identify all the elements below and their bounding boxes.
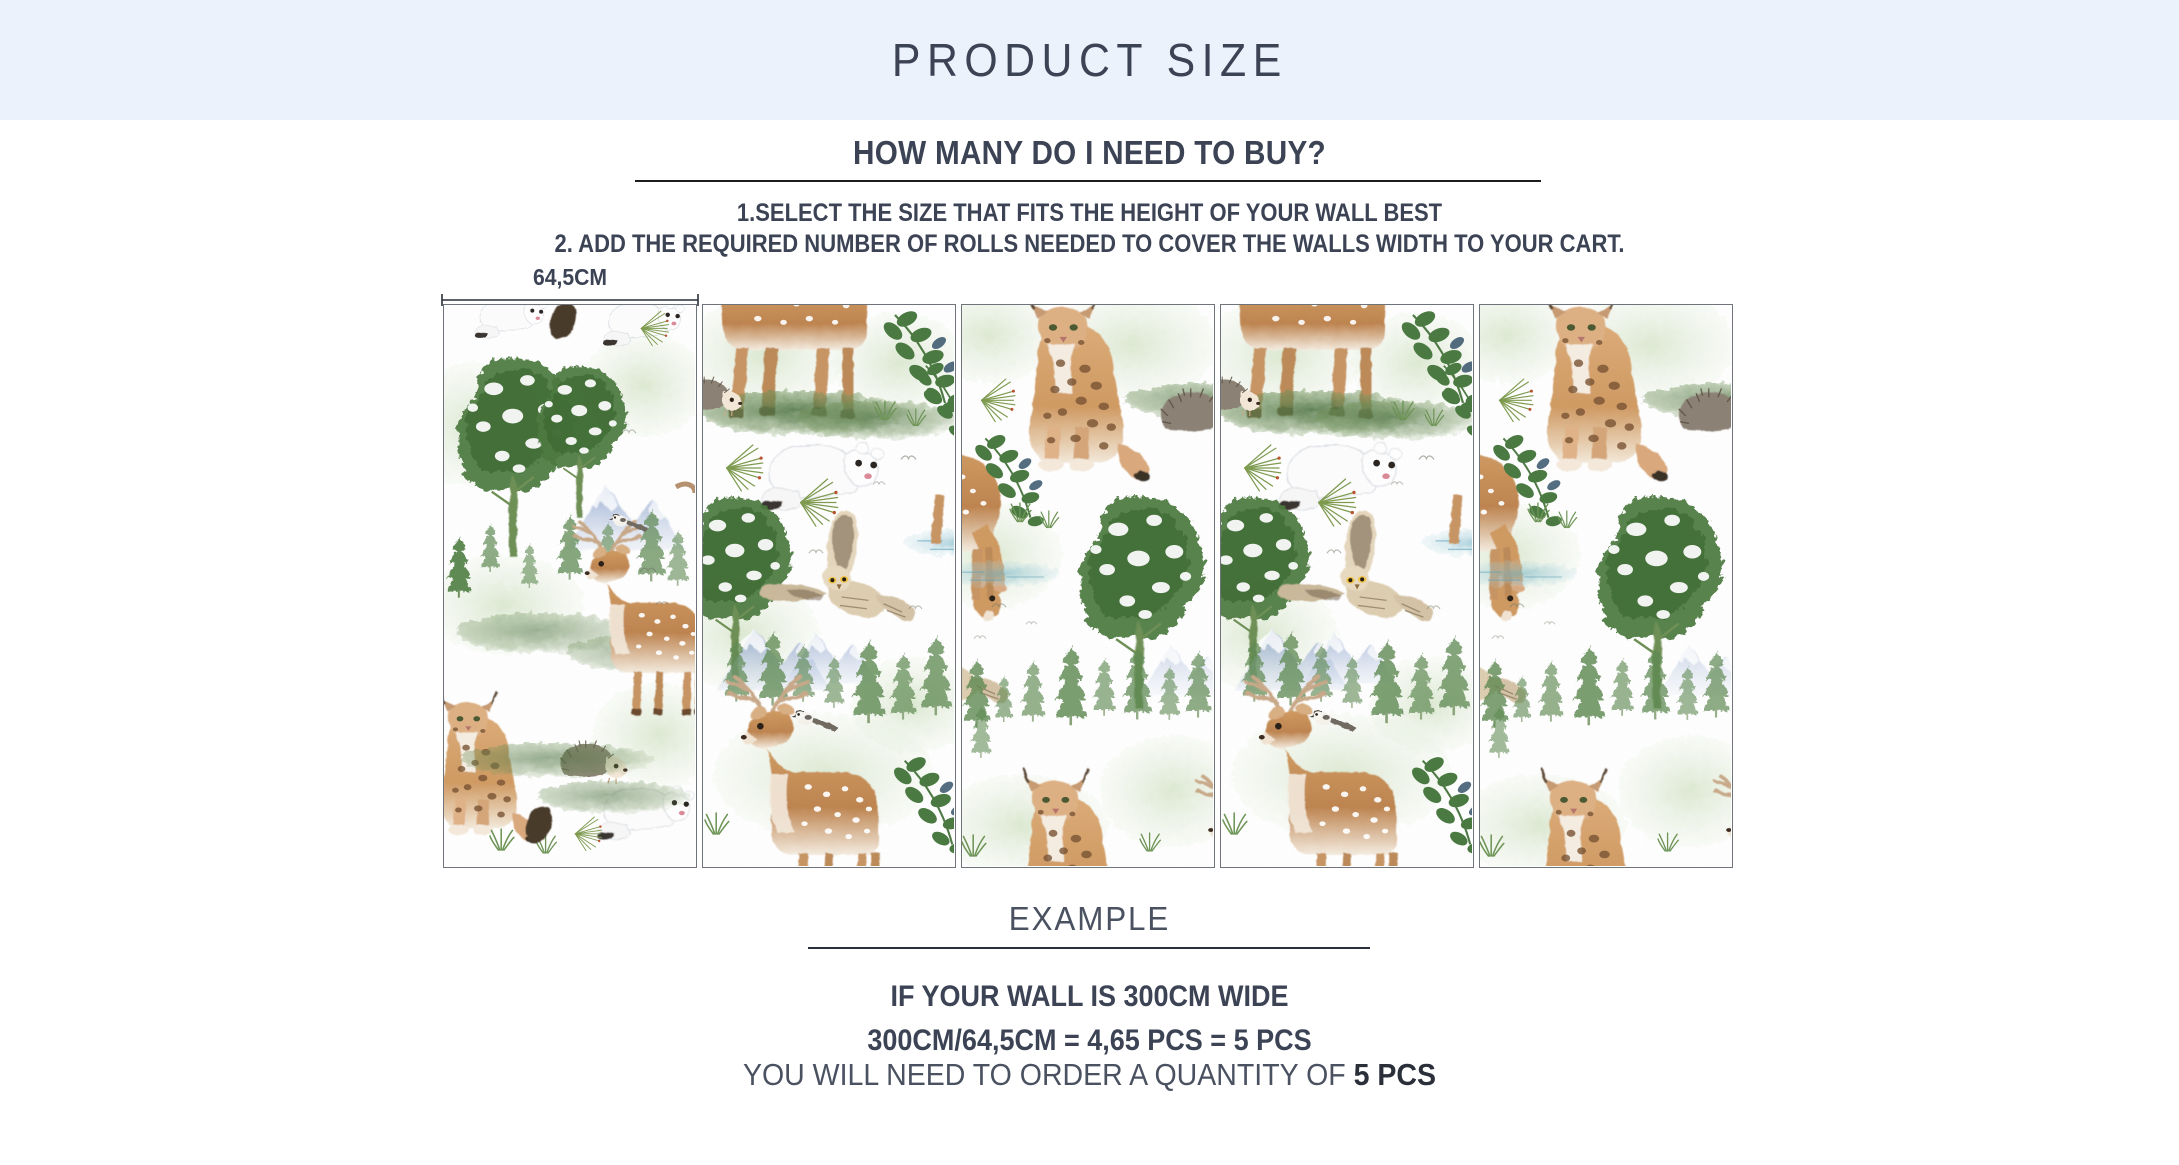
page-header-band: PRODUCT SIZE [0, 0, 2179, 120]
page-title: PRODUCT SIZE [892, 33, 1288, 87]
panel-width-label: 64,5CM [453, 264, 687, 291]
example-line-1: IF YOUR WALL IS 300CM WIDE [109, 975, 2070, 1019]
instruction-line-2: 2. ADD THE REQUIRED NUMBER OF ROLLS NEED… [131, 229, 2049, 260]
wallpaper-panel-4[interactable] [1220, 304, 1474, 868]
example-final-prefix: YOU WILL NEED TO ORDER A QUANTITY OF [743, 1057, 1354, 1092]
wallpaper-panel-1[interactable] [443, 304, 697, 868]
wallpaper-panel-strip [443, 304, 1739, 868]
example-final-quantity: 5 PCS [1354, 1057, 1436, 1092]
example-body: IF YOUR WALL IS 300CM WIDE 300CM/64,5CM … [0, 975, 2179, 1063]
instructions-block: 1.SELECT THE SIZE THAT FITS THE HEIGHT O… [0, 198, 2179, 260]
section-heading: HOW MANY DO I NEED TO BUY? [109, 134, 2070, 172]
example-divider [808, 947, 1370, 949]
wallpaper-panel-5[interactable] [1479, 304, 1733, 868]
wallpaper-panel-3[interactable] [961, 304, 1215, 868]
heading-divider [635, 180, 1541, 182]
example-final-line: YOU WILL NEED TO ORDER A QUANTITY OF 5 P… [87, 1057, 2092, 1093]
instruction-line-1: 1.SELECT THE SIZE THAT FITS THE HEIGHT O… [131, 198, 2049, 229]
example-title: EXAMPLE [54, 900, 2124, 938]
wallpaper-panel-2[interactable] [702, 304, 956, 868]
